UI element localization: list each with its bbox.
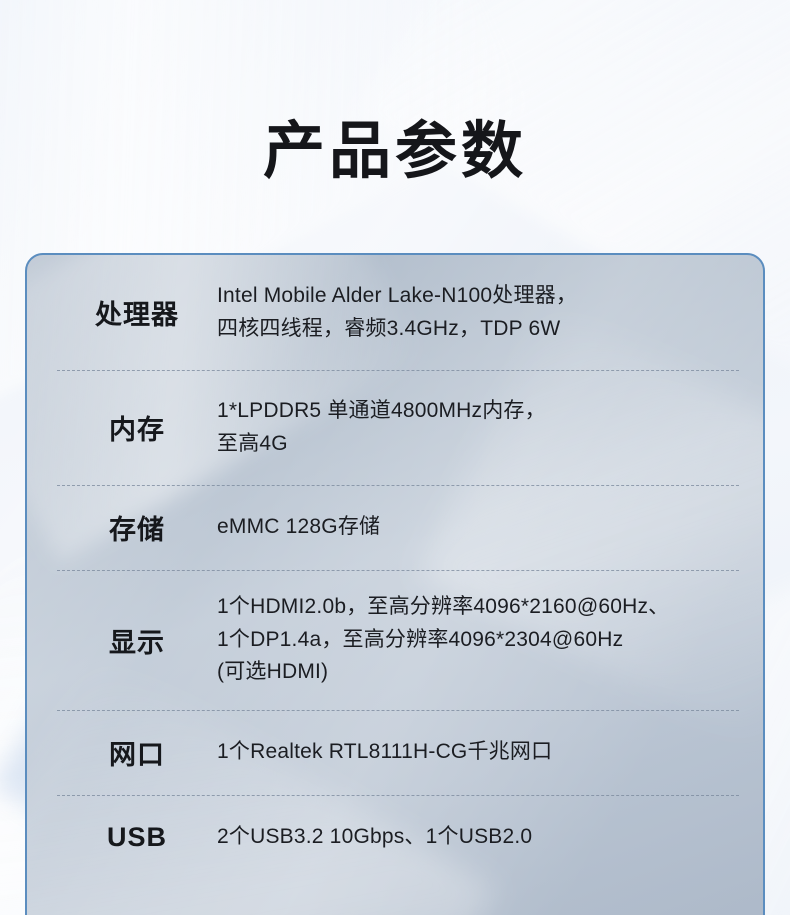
spec-value-line: 1个HDMI2.0b，至高分辨率4096*2160@60Hz、 [217, 591, 739, 624]
table-row: 处理器 Intel Mobile Alder Lake-N100处理器， 四核四… [27, 255, 763, 370]
spec-value-line: 1*LPDDR5 单通道4800MHz内存， [217, 395, 739, 428]
spec-label: 显示 [57, 621, 217, 660]
spec-value-line: (可选HDMI) [217, 656, 739, 689]
spec-table: 处理器 Intel Mobile Alder Lake-N100处理器， 四核四… [27, 255, 763, 880]
table-row: USB 2个USB3.2 10Gbps、1个USB2.0 [27, 795, 763, 880]
spec-label: 存储 [57, 508, 217, 547]
spec-label: 内存 [57, 408, 217, 447]
spec-value-line: Intel Mobile Alder Lake-N100处理器， [217, 280, 739, 313]
spec-value: eMMC 128G存储 [217, 511, 739, 544]
spec-value: 1个HDMI2.0b，至高分辨率4096*2160@60Hz、 1个DP1.4a… [217, 591, 739, 689]
spec-label: 处理器 [57, 293, 217, 332]
table-row: 网口 1个Realtek RTL8111H-CG千兆网口 [27, 710, 763, 795]
product-spec-page: 产品参数 处理器 Intel Mobile Alder Lake-N100处理器… [0, 0, 790, 915]
spec-value-line: 至高4G [217, 428, 739, 461]
spec-label: 网口 [57, 733, 217, 772]
spec-value: 2个USB3.2 10Gbps、1个USB2.0 [217, 821, 739, 854]
spec-value: Intel Mobile Alder Lake-N100处理器， 四核四线程，睿… [217, 280, 739, 345]
spec-value-line: 四核四线程，睿频3.4GHz，TDP 6W [217, 313, 739, 346]
spec-card: 处理器 Intel Mobile Alder Lake-N100处理器， 四核四… [25, 253, 765, 915]
spec-value-line: eMMC 128G存储 [217, 511, 739, 544]
spec-value-line: 2个USB3.2 10Gbps、1个USB2.0 [217, 821, 739, 854]
page-title: 产品参数 [0, 118, 790, 186]
spec-value: 1*LPDDR5 单通道4800MHz内存， 至高4G [217, 395, 739, 460]
spec-label: USB [57, 822, 217, 853]
table-row: 存储 eMMC 128G存储 [27, 485, 763, 570]
spec-value-line: 1个DP1.4a，至高分辨率4096*2304@60Hz [217, 624, 739, 657]
spec-value: 1个Realtek RTL8111H-CG千兆网口 [217, 736, 739, 769]
table-row: 内存 1*LPDDR5 单通道4800MHz内存， 至高4G [27, 370, 763, 485]
spec-value-line: 1个Realtek RTL8111H-CG千兆网口 [217, 736, 739, 769]
table-row: 显示 1个HDMI2.0b，至高分辨率4096*2160@60Hz、 1个DP1… [27, 570, 763, 710]
